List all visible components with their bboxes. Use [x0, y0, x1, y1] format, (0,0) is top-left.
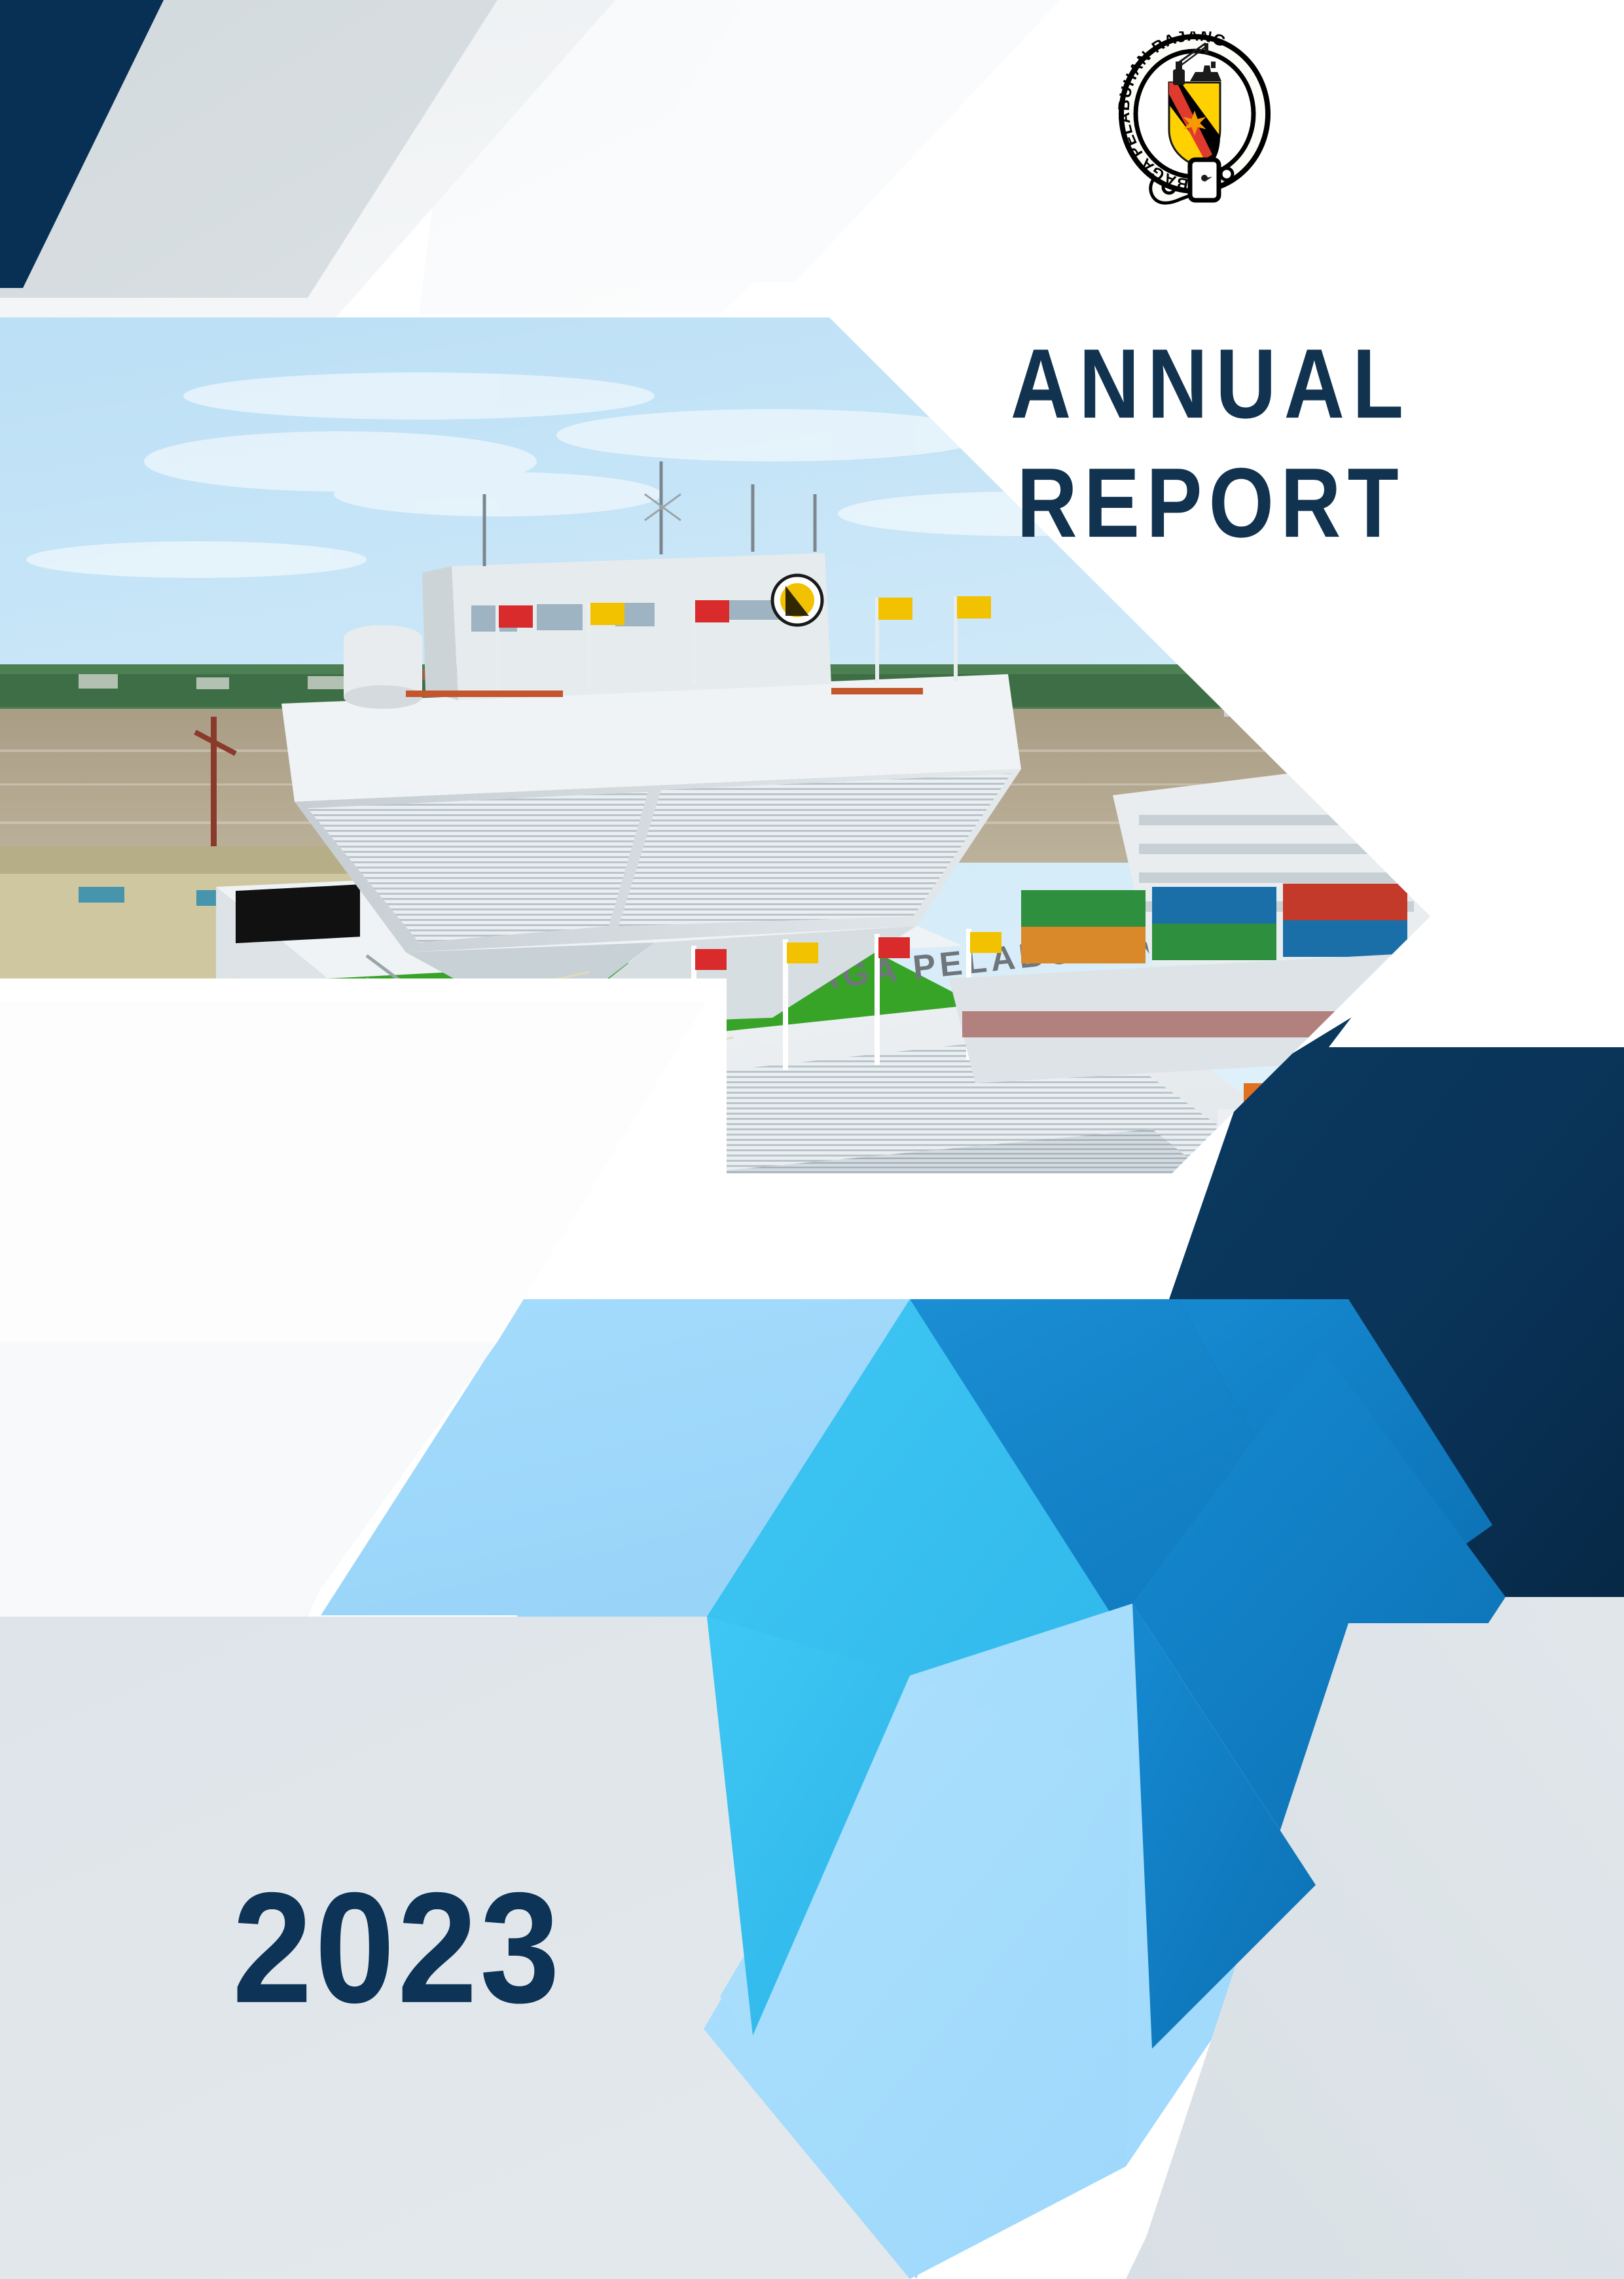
- cover-year: 2023: [232, 1869, 562, 2026]
- organization-logo: LEMBAGA PELABUHAN RAJANG: [1113, 31, 1276, 221]
- title-line-report: REPORT: [975, 433, 1447, 573]
- annual-report-cover: LEMBAGA PELABUHAN RAJANG: [0, 0, 1624, 2279]
- left-white-panel: [0, 969, 727, 1342]
- cover-title: ANNUAL REPORT: [975, 314, 1447, 552]
- crest-icon: LEMBAGA PELABUHAN RAJANG: [1113, 31, 1276, 221]
